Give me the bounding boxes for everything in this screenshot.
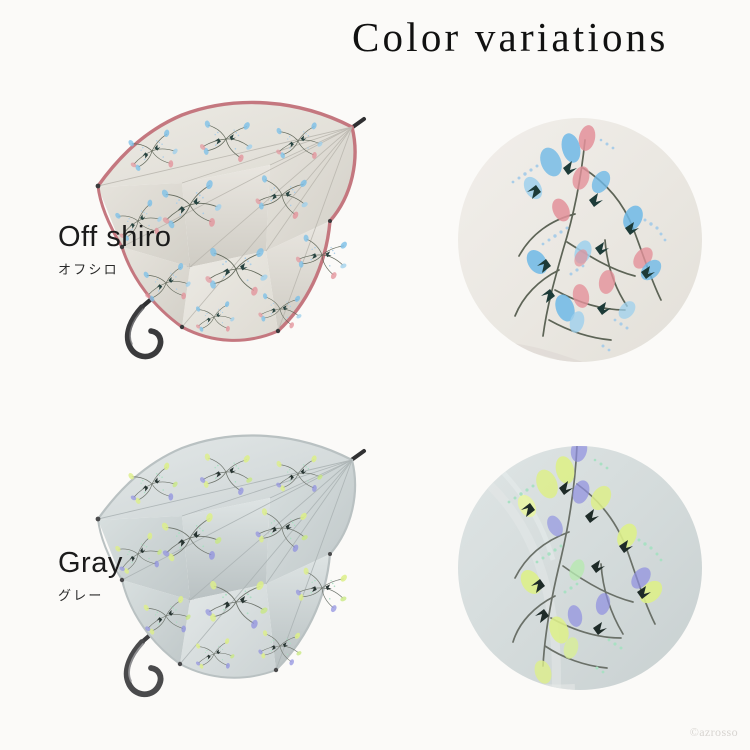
fabric-detail-gray	[455, 440, 710, 705]
variation-label-gray: Gray グレー	[58, 548, 123, 604]
variation-name-en-gray: Gray	[58, 548, 123, 578]
variation-name-jp-gray: グレー	[58, 585, 123, 604]
umbrella-photo-off-shiro	[30, 55, 430, 385]
fabric-detail-off-shiro	[455, 110, 710, 370]
variation-label-off-shiro: Off shiro オフシロ	[58, 222, 172, 278]
variation-name-en-off-shiro: Off shiro	[58, 222, 172, 252]
product-color-variations-page: Color variations	[0, 0, 750, 750]
copyright-watermark: ©azrosso	[690, 725, 738, 740]
variation-name-jp-off-shiro: オフシロ	[58, 259, 172, 278]
